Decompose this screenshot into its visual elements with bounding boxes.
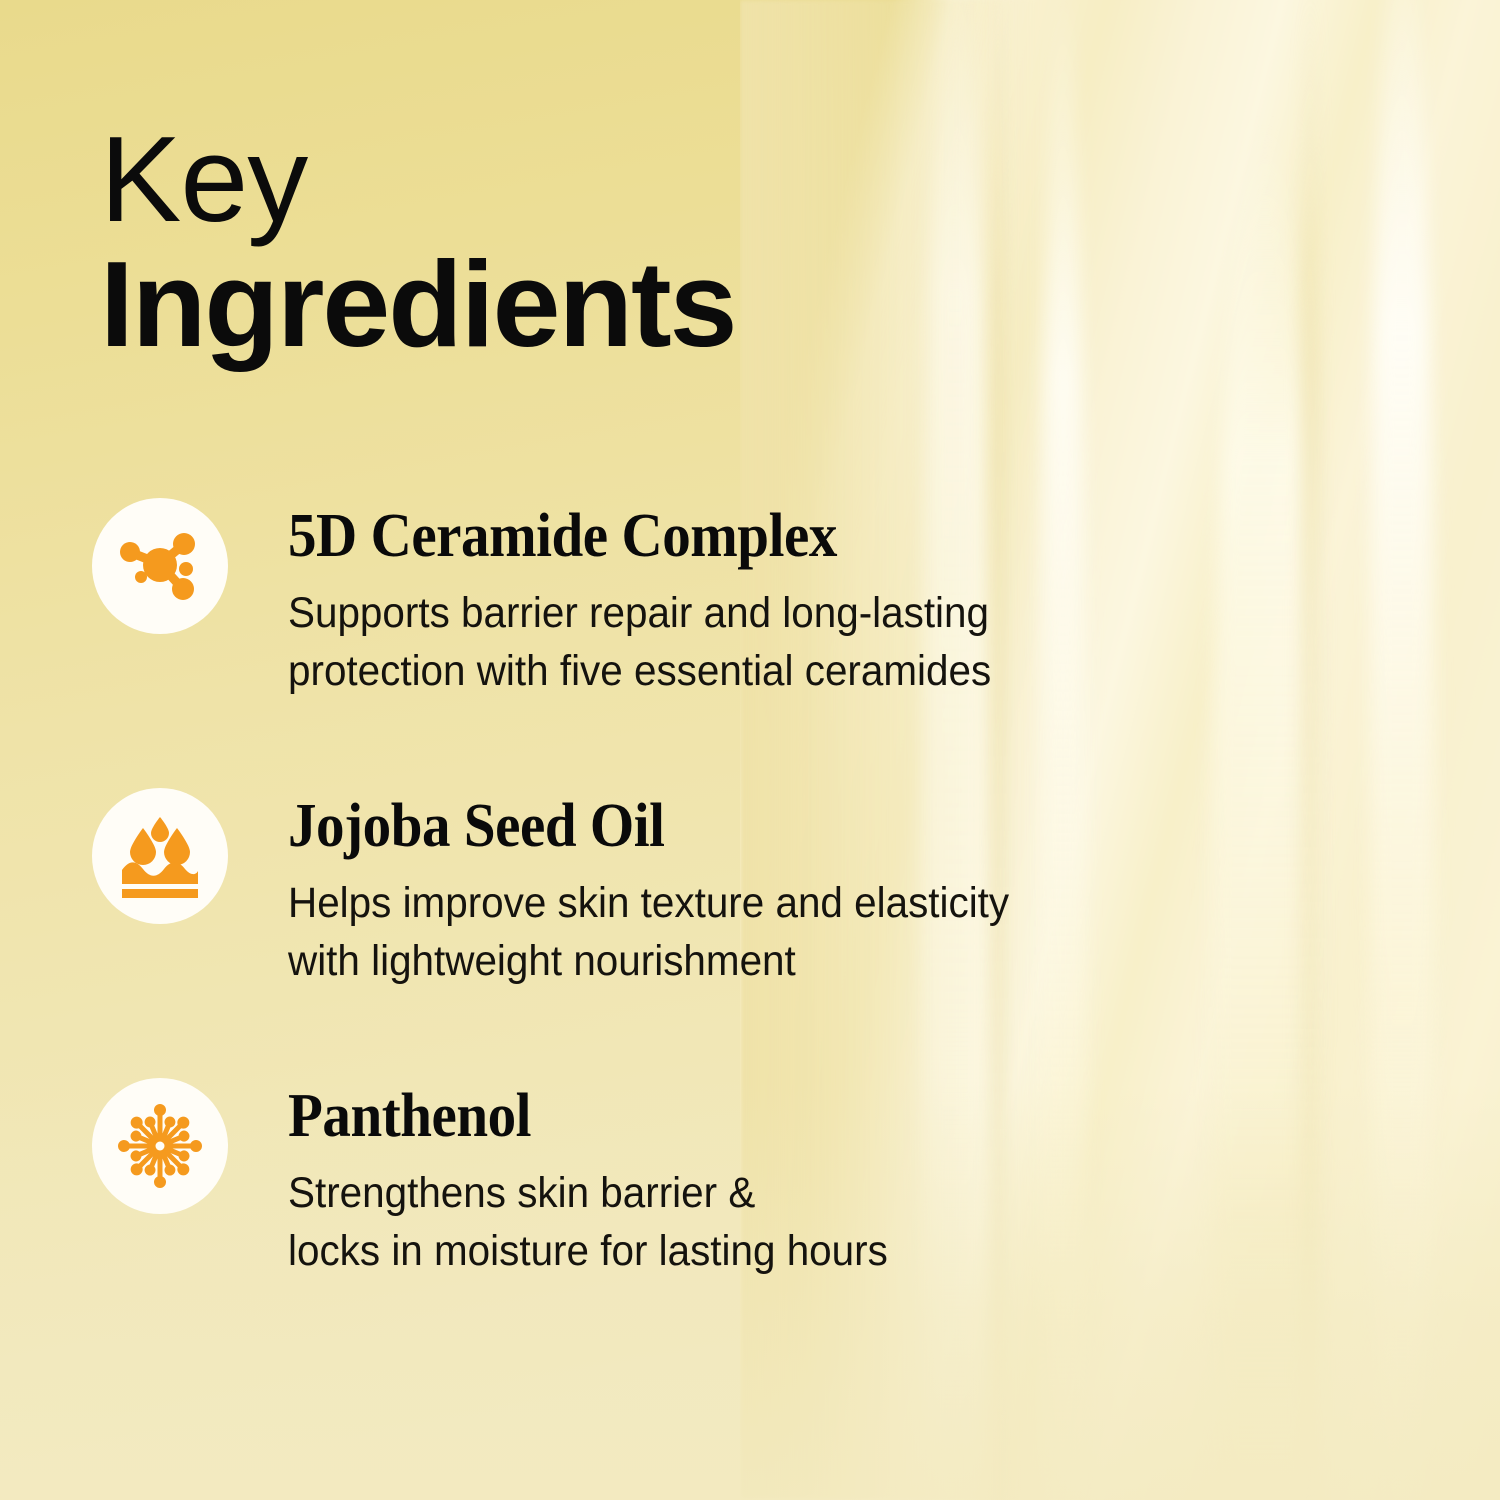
droplets-absorb-icon bbox=[92, 788, 228, 924]
ingredient-description-line: Supports barrier repair and long-lasting bbox=[288, 585, 1213, 643]
ingredient-text: Panthenol Strengthens skin barrier & loc… bbox=[288, 1078, 1272, 1280]
ingredient-description: Helps improve skin texture and elasticit… bbox=[288, 875, 1213, 990]
molecule-icon bbox=[92, 498, 228, 634]
ingredient-item: Panthenol Strengthens skin barrier & loc… bbox=[92, 1078, 1272, 1324]
ingredient-title: 5D Ceramide Complex bbox=[288, 504, 1193, 569]
ingredient-description-line: locks in moisture for lasting hours bbox=[288, 1223, 1213, 1281]
ingredient-list: 5D Ceramide Complex Supports barrier rep… bbox=[92, 498, 1272, 1324]
radial-burst-icon bbox=[92, 1078, 228, 1214]
ingredient-description-line: Strengthens skin barrier & bbox=[288, 1165, 1213, 1223]
page-title-line-2: Ingredients bbox=[100, 242, 736, 366]
ingredient-description-line: protection with five essential ceramides bbox=[288, 643, 1213, 701]
ingredient-title: Panthenol bbox=[288, 1084, 1193, 1149]
page-title: Key Ingredients bbox=[100, 117, 736, 366]
ingredient-text: Jojoba Seed Oil Helps improve skin textu… bbox=[288, 788, 1272, 990]
ingredient-item: Jojoba Seed Oil Helps improve skin textu… bbox=[92, 788, 1272, 1034]
ingredient-title: Jojoba Seed Oil bbox=[288, 794, 1193, 859]
ingredient-description: Strengthens skin barrier & locks in mois… bbox=[288, 1165, 1213, 1280]
ingredient-description-line: Helps improve skin texture and elasticit… bbox=[288, 875, 1213, 933]
ingredient-description: Supports barrier repair and long-lasting… bbox=[288, 585, 1213, 700]
ingredient-item: 5D Ceramide Complex Supports barrier rep… bbox=[92, 498, 1272, 744]
ingredient-description-line: with lightweight nourishment bbox=[288, 933, 1213, 991]
content-layer: Key Ingredients bbox=[0, 0, 1500, 1500]
ingredient-text: 5D Ceramide Complex Supports barrier rep… bbox=[288, 498, 1272, 700]
key-ingredients-infographic: Key Ingredients bbox=[0, 0, 1500, 1500]
page-title-line-1: Key bbox=[100, 117, 736, 241]
